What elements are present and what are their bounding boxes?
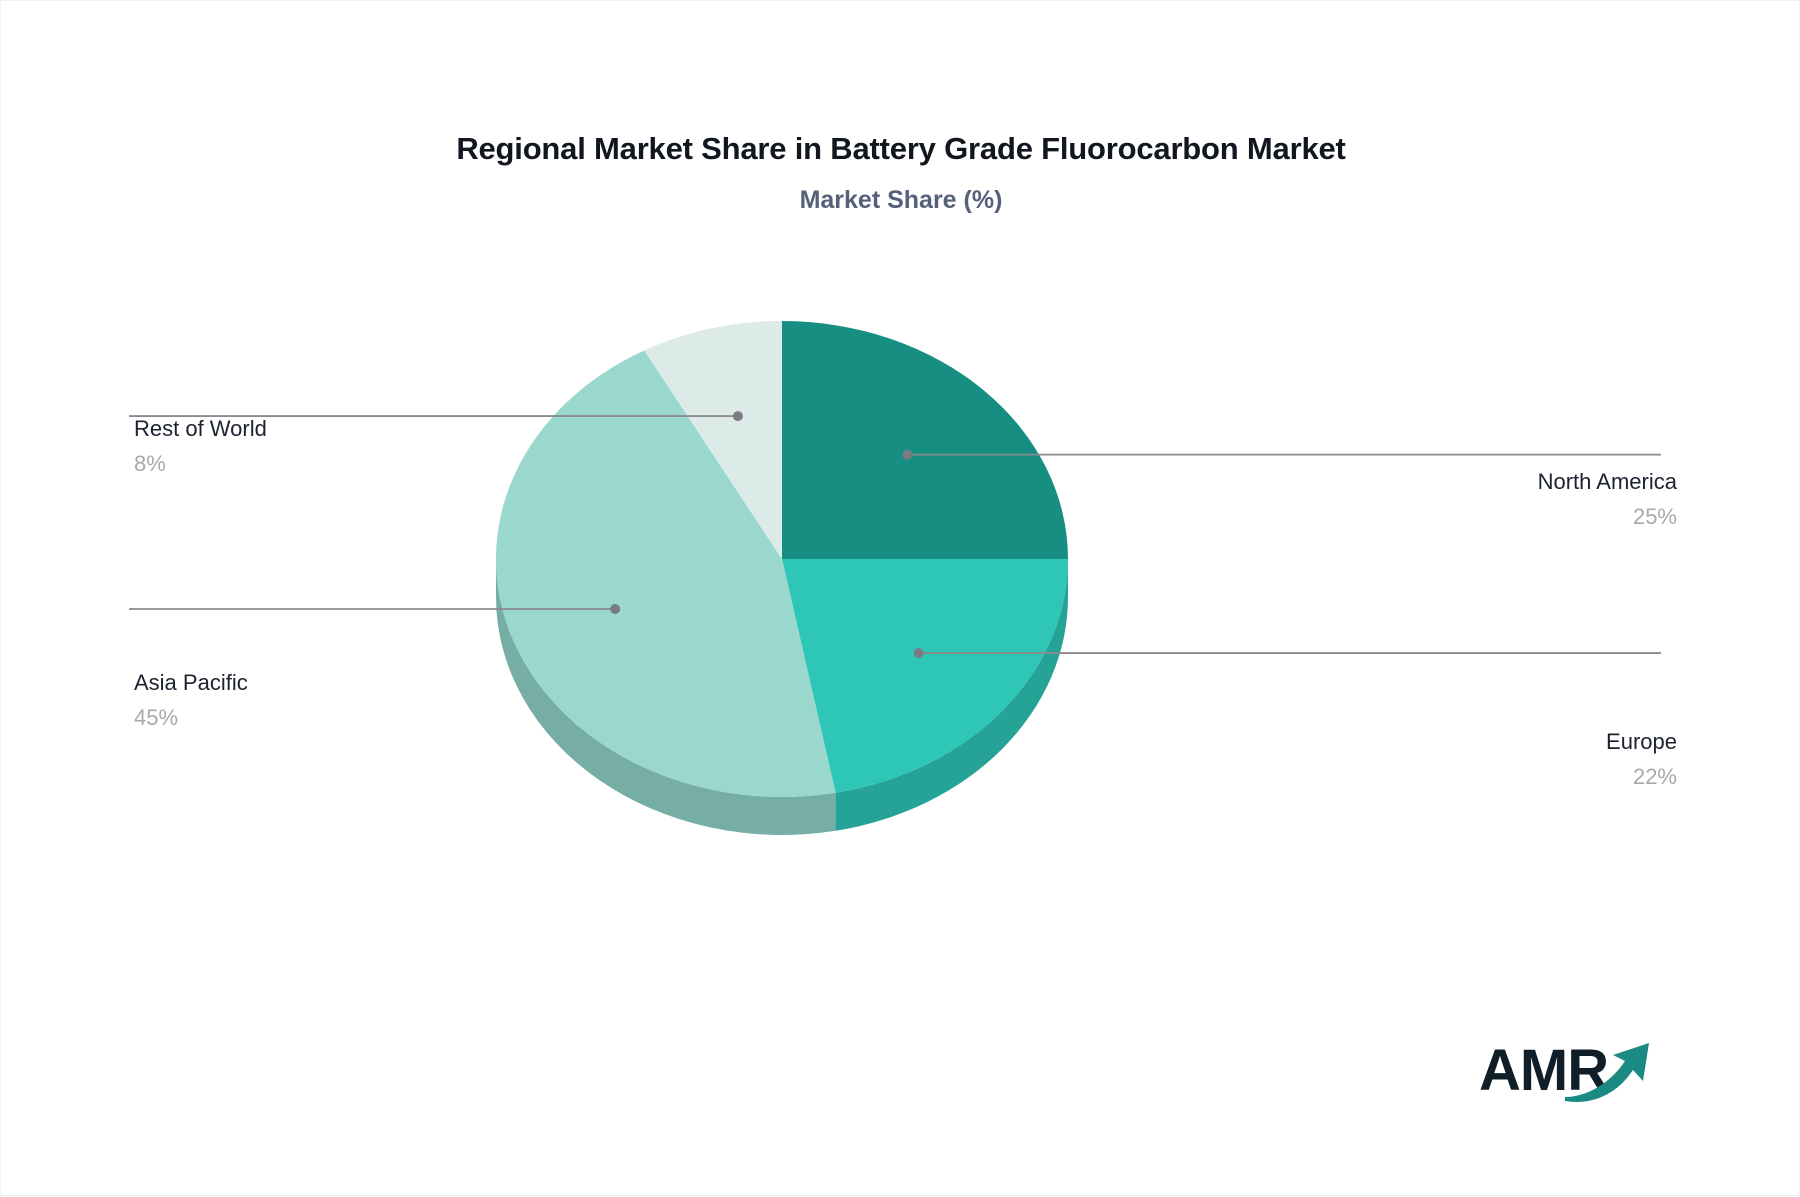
leader-dot-rest-of-world	[733, 411, 743, 421]
pie-top-layer	[496, 321, 1068, 797]
callout-north-america: North America 25%	[1538, 469, 1677, 531]
callout-value: 22%	[1606, 764, 1677, 791]
leader-dot-north-america	[902, 450, 912, 460]
pie-slice-north-america[interactable]	[782, 321, 1068, 559]
callout-label: Asia Pacific	[134, 670, 248, 697]
leader-dot-europe	[914, 648, 924, 658]
callout-label: Europe	[1606, 729, 1677, 756]
callout-value: 8%	[134, 451, 267, 478]
callout-europe: Europe 22%	[1606, 729, 1677, 791]
amr-logo: AMR	[1479, 1033, 1659, 1111]
chart-canvas: Regional Market Share in Battery Grade F…	[0, 0, 1800, 1196]
callout-value: 45%	[134, 705, 248, 732]
callout-value: 25%	[1538, 504, 1677, 531]
trend-up-arrow-icon	[1563, 1039, 1655, 1103]
pie-chart	[1, 1, 1800, 1197]
callout-rest-of-world: Rest of World 8%	[134, 416, 267, 478]
callout-label: North America	[1538, 469, 1677, 496]
callout-asia-pacific: Asia Pacific 45%	[134, 670, 248, 732]
leader-dot-asia-pacific	[610, 604, 620, 614]
callout-label: Rest of World	[134, 416, 267, 443]
